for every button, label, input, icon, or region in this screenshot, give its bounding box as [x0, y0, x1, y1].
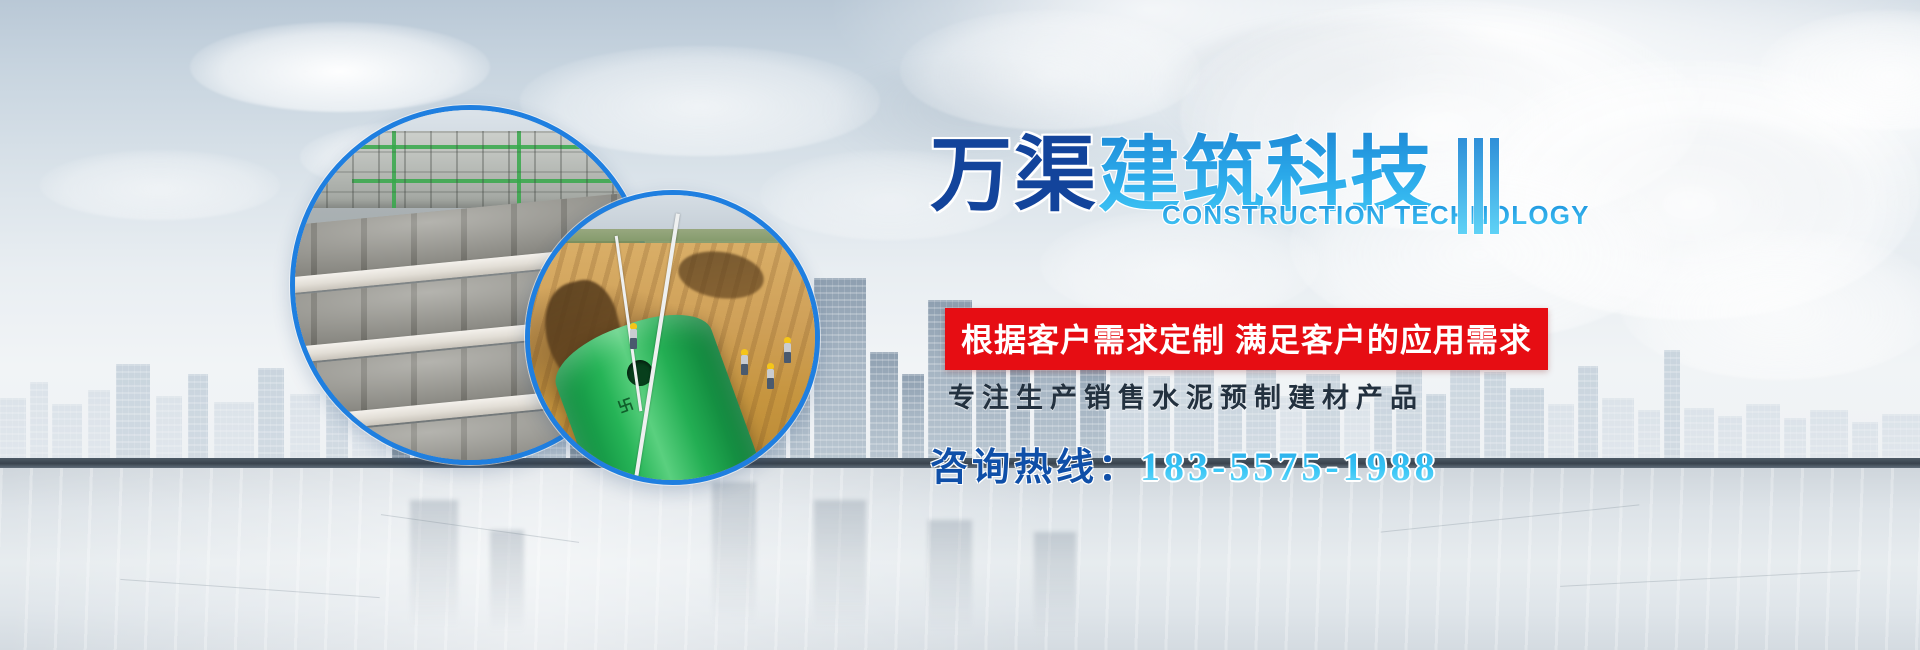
worker: [630, 329, 637, 349]
cloud: [190, 22, 490, 112]
promo-banner: 卐 万渠建筑科技 CONSTRUCTION TECHNOLOGY 根据客户需求定…: [0, 0, 1920, 650]
brand-name-dark: 万渠: [930, 130, 1098, 221]
brand-logo: 万渠建筑科技 CONSTRUCTION TECHNOLOGY: [930, 128, 1530, 232]
cloud: [40, 150, 280, 220]
hotline-number[interactable]: 183-5575-1988: [1140, 443, 1439, 490]
tagline: 专注生产销售水泥预制建材产品: [948, 376, 1424, 415]
hotline-label: 咨询热线：: [930, 436, 1140, 491]
worker: [767, 369, 774, 389]
decorative-bars-icon: [1458, 138, 1499, 234]
red-banner-text: 根据客户需求定制 满足客户的应用需求: [961, 322, 1532, 358]
photo-septic-tank-installation: 卐: [525, 190, 820, 485]
worker: [741, 355, 748, 375]
banner-copy: 万渠建筑科技 CONSTRUCTION TECHNOLOGY 根据客户需求定制 …: [930, 128, 1530, 232]
red-highlight-banner: 根据客户需求定制 满足客户的应用需求: [945, 308, 1548, 370]
brand-english-subtitle: CONSTRUCTION TECHNOLOGY: [1162, 200, 1590, 231]
cloud: [900, 10, 1200, 130]
excavation-artwork: 卐: [530, 195, 815, 480]
worker: [784, 343, 791, 363]
reflective-ground: [0, 468, 1920, 650]
hotline: 咨询热线： 183-5575-1988: [930, 436, 1439, 491]
